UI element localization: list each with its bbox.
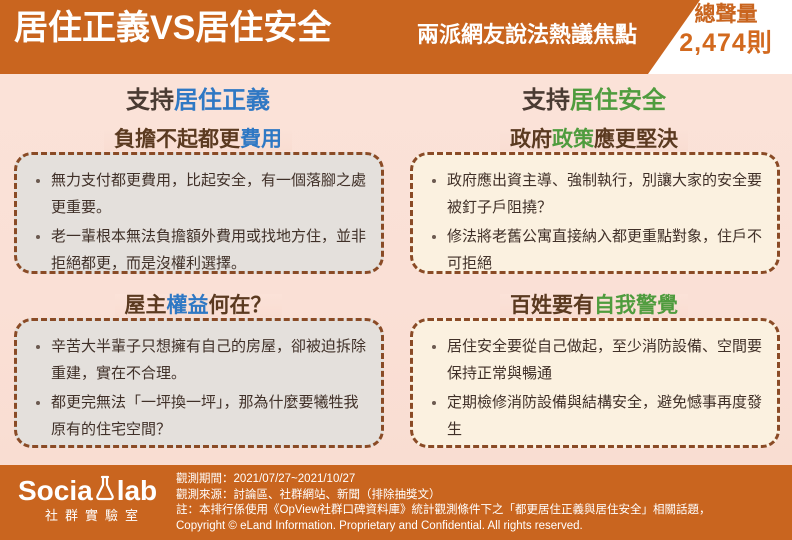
column-title-left-prefix: 支持 [126,87,174,114]
list-item: 老一輩根本無法負擔額外費用或找地方住，並非拒絕都更，而是沒權利選擇。 [29,223,367,277]
heading-part-1: 屋主 [125,294,167,317]
heading-part-2: 政策 [552,128,594,151]
heading-part-3: 何在？ [209,294,272,317]
list-item: 定期檢修消防設備與結構安全，避免憾事再度發生 [425,389,763,443]
section-heading-left-2-text: 屋主權益何在？ [115,294,282,317]
heading-part-3: 應更堅決 [594,128,678,151]
footer-source: 觀測來源：討論區、社群網站、新聞（排除抽獎文） [176,488,711,504]
card-right-1: 政府應出資主導、強制執行，別讓大家的安全要被釘子戶阻撓？修法將老舊公寓直接納入都… [410,152,780,274]
logo-wordmark: Socia lab [18,474,168,507]
bullet-list-right-2: 居住安全要從自己做起，至少消防設備、空間要保持正常與暢通定期檢修消防設備與結構安… [425,333,763,443]
logo-subtitle: 社群實驗室 [18,507,168,525]
footer: Socia lab 社群實驗室 觀測期間：2021/07/27~2021/10/… [0,465,792,540]
heading-part-1: 百姓要有 [510,294,594,317]
heading-part-1: 政府 [510,128,552,151]
section-heading-left-1: 負擔不起都更費用 [0,127,396,153]
column-title-right-highlight: 居住安全 [570,87,666,114]
footer-note: 註：本排行係使用《OpView社群口碑資料庫》統計觀測條件下之「都更居住正義與居… [176,503,711,519]
logo-text-part1: Socia [18,475,93,507]
column-title-left: 支持居住正義 [0,86,396,116]
flask-icon [94,475,116,508]
header: 居住正義VS居住安全 兩派網友說法熱議焦點 總聲量 2,474則 [0,0,792,74]
page-title: 居住正義VS居住安全 [14,7,331,49]
section-heading-right-2: 百姓要有自我警覺 [396,293,792,319]
section-heading-left-1-text: 負擔不起都更費用 [104,128,292,151]
total-volume-label: 總聲量 [668,2,784,28]
column-title-right-prefix: 支持 [522,87,570,114]
heading-part-2: 自我警覺 [594,294,678,317]
bullet-list-left-2: 辛苦大半輩子只想擁有自己的房屋，卻被迫拆除重建，實在不合理。都更完無法「一坪換一… [29,333,367,443]
section-heading-right-1: 政府政策應更堅決 [396,127,792,153]
list-item: 無力支付都更費用，比起安全，有一個落腳之處更重要。 [29,167,367,221]
card-left-2: 辛苦大半輩子只想擁有自己的房屋，卻被迫拆除重建，實在不合理。都更完無法「一坪換一… [14,318,384,448]
card-right-2: 居住安全要從自己做起，至少消防設備、空間要保持正常與暢通定期檢修消防設備與結構安… [410,318,780,448]
logo-text-part2: lab [117,475,157,507]
footer-notes: 觀測期間：2021/07/27~2021/10/27 觀測來源：討論區、社群網站… [176,472,711,534]
heading-part-2: 權益 [167,294,209,317]
footer-period: 觀測期間：2021/07/27~2021/10/27 [176,472,711,488]
socialab-logo: Socia lab 社群實驗室 [18,474,168,525]
section-heading-right-2-text: 百姓要有自我警覺 [500,294,688,317]
heading-part-2: 費用 [240,128,282,151]
page-subtitle: 兩派網友說法熱議焦點 [417,20,637,50]
list-item: 都更完無法「一坪換一坪」，那為什麼要犧牲我原有的住宅空間？ [29,389,367,443]
section-heading-right-1-text: 政府政策應更堅決 [500,128,688,151]
bullet-list-right-1: 政府應出資主導、強制執行，別讓大家的安全要被釘子戶阻撓？修法將老舊公寓直接納入都… [425,167,763,277]
list-item: 辛苦大半輩子只想擁有自己的房屋，卻被迫拆除重建，實在不合理。 [29,333,367,387]
column-title-right: 支持居住安全 [396,86,792,116]
heading-part-1: 負擔不起都更 [114,128,240,151]
column-title-left-highlight: 居住正義 [174,87,270,114]
bullet-list-left-1: 無力支付都更費用，比起安全，有一個落腳之處更重要。老一輩根本無法負擔額外費用或找… [29,167,367,277]
total-volume-value: 2,474則 [668,28,784,58]
list-item: 修法將老舊公寓直接納入都更重點對象，住戶不可拒絕 [425,223,763,277]
list-item: 居住安全要從自己做起，至少消防設備、空間要保持正常與暢通 [425,333,763,387]
section-heading-left-2: 屋主權益何在？ [0,293,396,319]
footer-copyright: Copyright © eLand Information. Proprieta… [176,519,711,535]
infographic-page: 居住正義VS居住安全 兩派網友說法熱議焦點 總聲量 2,474則 支持居住正義 … [0,0,792,540]
card-left-1: 無力支付都更費用，比起安全，有一個落腳之處更重要。老一輩根本無法負擔額外費用或找… [14,152,384,274]
list-item: 政府應出資主導、強制執行，別讓大家的安全要被釘子戶阻撓？ [425,167,763,221]
total-volume-badge: 總聲量 2,474則 [668,2,784,58]
